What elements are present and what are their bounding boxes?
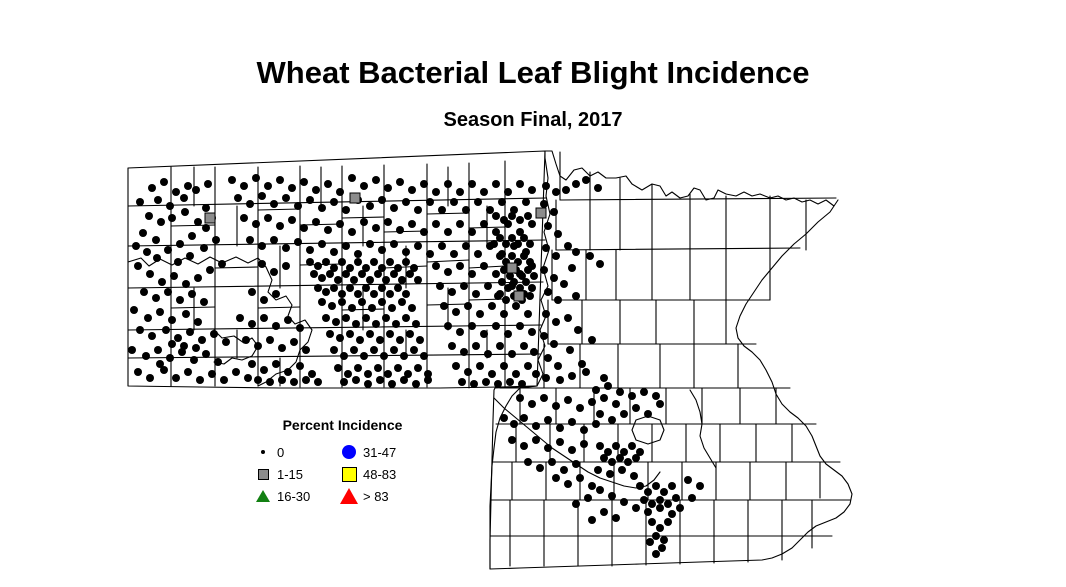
legend-entry-48-83[interactable]: 48-83 (338, 464, 424, 484)
legend-entry-0[interactable]: 0 (252, 442, 338, 462)
legend-row: 0 31-47 (252, 441, 427, 463)
legend-title: Percent Incidence (258, 416, 427, 434)
legend-label-48-83: 48-83 (360, 467, 396, 482)
legend-row: 1-15 48-83 (252, 463, 427, 485)
map-graphic (0, 0, 1066, 587)
legend-label-16-30: 16-30 (274, 489, 310, 504)
legend-row: 16-30 > 83 (252, 485, 427, 507)
legend-label-over-83: > 83 (360, 489, 389, 504)
legend-entries: 0 31-47 1-15 48-83 (252, 441, 427, 507)
legend-entry-31-47[interactable]: 31-47 (338, 442, 424, 462)
legend-label-1-15: 1-15 (274, 467, 303, 482)
small-black-dot-icon (252, 442, 274, 462)
legend-entry-over-83[interactable]: > 83 (338, 486, 424, 506)
legend-entry-16-30[interactable]: 16-30 (252, 486, 338, 506)
blue-circle-icon (338, 442, 360, 462)
legend-entry-1-15[interactable]: 1-15 (252, 464, 338, 484)
green-triangle-icon (252, 486, 274, 506)
legend-label-0: 0 (274, 445, 284, 460)
legend-label-31-47: 31-47 (360, 445, 396, 460)
red-triangle-icon (338, 486, 360, 506)
yellow-square-icon (338, 464, 360, 484)
map-page: Wheat Bacterial Leaf Blight Incidence Se… (0, 0, 1066, 587)
legend: Percent Incidence 0 31-47 1-15 (252, 416, 427, 508)
gray-square-icon (252, 464, 274, 484)
